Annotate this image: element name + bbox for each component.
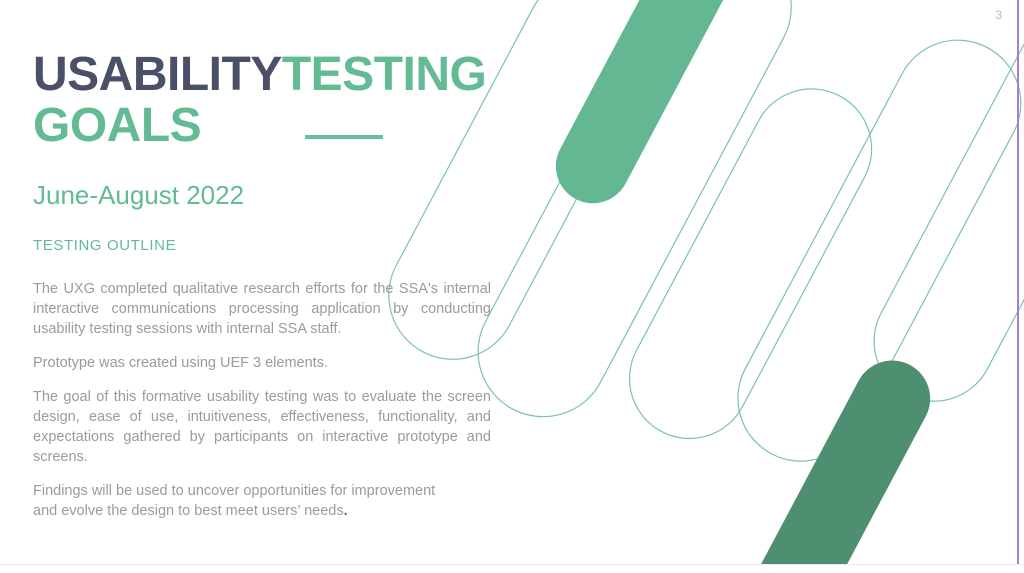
title-word-testing: TESTING (282, 48, 487, 101)
outline-capsule-3 (608, 68, 892, 460)
section-label-testing-outline: TESTING OUTLINE (33, 237, 493, 254)
paragraph-3: The goal of this formative usability tes… (33, 387, 491, 467)
right-edge-accent (1017, 0, 1019, 573)
slide-canvas: 3 USABILITYTESTING GOALS June-August 202… (0, 0, 1024, 573)
body-copy: The UXG completed qualitative research e… (33, 279, 493, 521)
bottom-edge-band (0, 564, 1024, 573)
page-title: USABILITYTESTING GOALS (33, 50, 493, 152)
title-word-usability: USABILITY (33, 48, 282, 101)
paragraph-4-text: Findings will be used to uncover opportu… (33, 483, 435, 519)
outline-capsule-5 (853, 0, 1024, 422)
slide-content: USABILITYTESTING GOALS June-August 2022 … (33, 0, 493, 521)
outline-capsule-2 (455, 0, 814, 440)
solid-capsule-light (543, 0, 763, 216)
paragraph-2: Prototype was created using UEF 3 elemen… (33, 353, 491, 373)
outline-capsule-4 (716, 18, 1024, 483)
title-accent-rule (305, 135, 383, 139)
title-line-two: GOALS (33, 101, 493, 152)
solid-capsule-dark (722, 347, 944, 573)
paragraph-4-period: . (344, 503, 348, 519)
paragraph-4: Findings will be used to uncover opportu… (33, 481, 463, 521)
paragraph-1: The UXG completed qualitative research e… (33, 279, 491, 339)
date-range: June-August 2022 (33, 180, 493, 211)
title-word-goals: GOALS (33, 101, 201, 152)
page-number: 3 (995, 8, 1002, 22)
title-line-one: USABILITYTESTING (33, 50, 493, 101)
